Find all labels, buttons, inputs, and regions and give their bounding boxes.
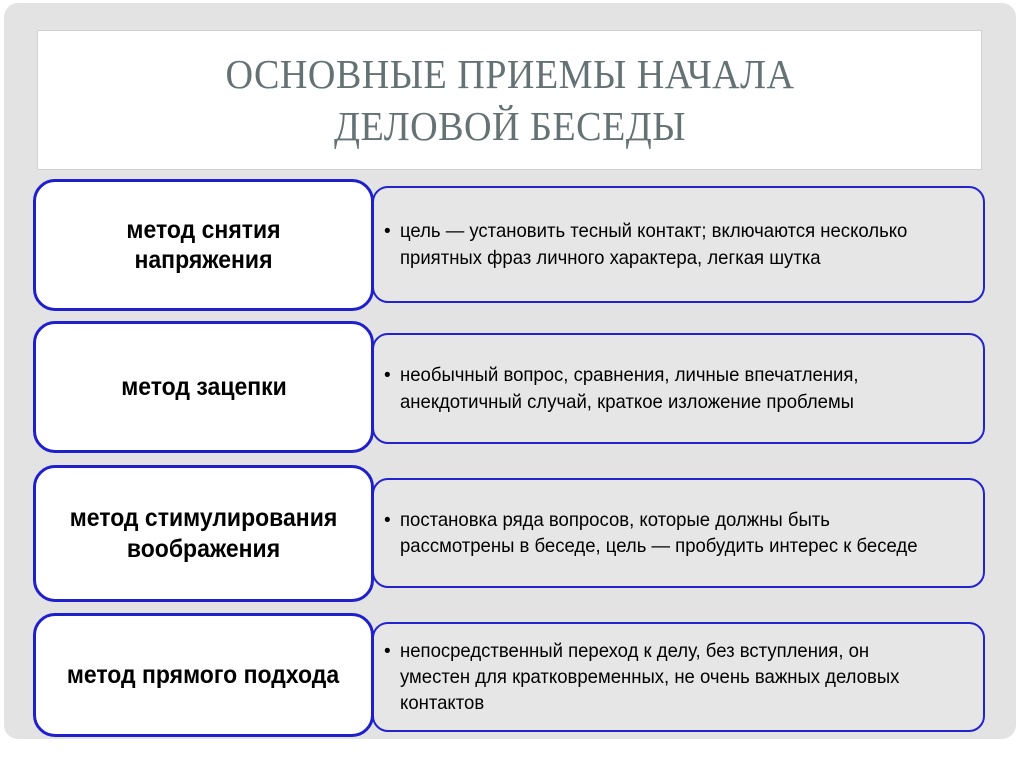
method-name-box[interactable]: метод зацепки [33,321,374,453]
method-name-box[interactable]: метод прямого подхода [33,613,374,737]
method-row: метод стимулирования воображения • поста… [4,465,1016,605]
page-title: Основные приемы начала деловой беседы [184,48,835,153]
method-description-text: необычный вопрос, сравнения, личные впеч… [400,362,941,415]
bullet-icon: • [384,639,391,664]
method-description-text: непосредственный переход к делу, без вст… [400,638,941,717]
method-name-label: метод стимулирования воображения [49,503,357,564]
bullet-icon: • [384,363,391,388]
method-row: метод зацепки • необычный вопрос, сравне… [4,321,1016,457]
method-description-box[interactable]: • необычный вопрос, сравнения, личные вп… [372,333,985,444]
method-description-text: цель — установить тесный контакт; включа… [400,218,941,271]
method-description-box[interactable]: • непосредственный переход к делу, без в… [372,622,985,732]
slide-canvas: Основные приемы начала деловой беседы ме… [4,3,1016,739]
bullet-icon: • [384,219,391,244]
method-name-label: метод снятия напряжения [49,215,357,276]
bullet-icon: • [384,508,391,533]
method-row: метод прямого подхода • непосредственный… [4,613,1016,741]
method-description-box[interactable]: • цель — установить тесный контакт; вклю… [372,186,985,303]
slide-title-panel: Основные приемы начала деловой беседы [37,30,982,170]
method-description-text: постановка ряда вопросов, которые должны… [400,507,941,560]
method-name-box[interactable]: метод стимулирования воображения [33,465,374,602]
method-description-box[interactable]: • постановка ряда вопросов, которые долж… [372,478,985,588]
method-row: метод снятия напряжения • цель — установ… [4,179,1016,315]
method-name-label: метод прямого подхода [56,660,350,691]
method-name-label: метод зацепки [110,372,298,403]
method-name-box[interactable]: метод снятия напряжения [33,179,374,311]
